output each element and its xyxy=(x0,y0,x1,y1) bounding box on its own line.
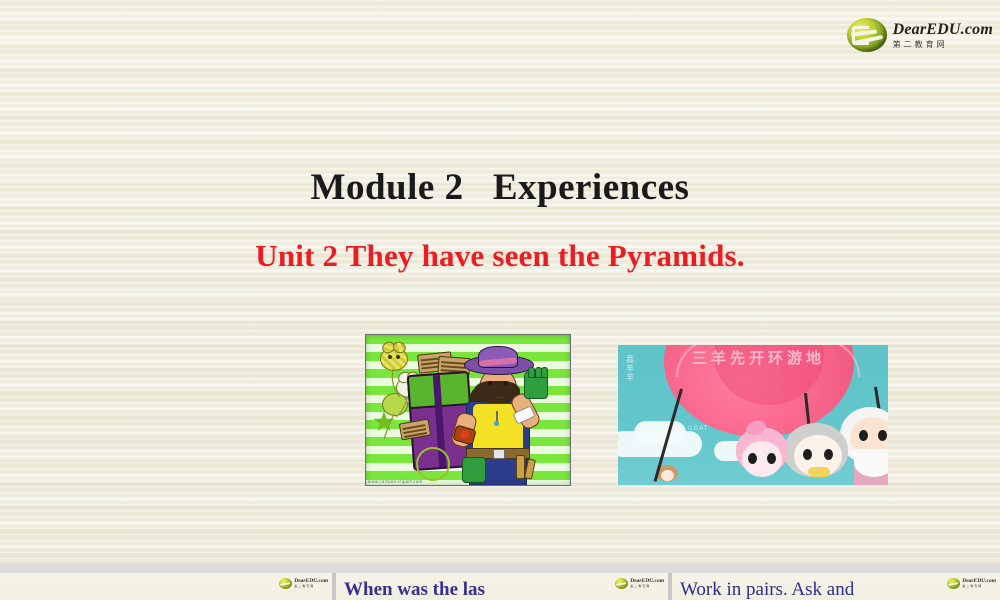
thumb-logo-sub-1: 第二教育网 xyxy=(294,585,328,588)
thumb-text-2: When was the las xyxy=(344,579,668,600)
corner-stamp-icon: 喜羊羊 xyxy=(626,355,640,381)
slide-gap xyxy=(0,563,1000,573)
slide-thumbnail-strip[interactable]: DearEDU.com 第二教育网 DearEDU.com 第二教育网 When… xyxy=(0,573,1000,600)
boy-traveller-cartoon[interactable]: www.cartoon-clipart.com xyxy=(365,334,571,486)
current-slide[interactable]: DearEDU.com 第二教育网 Module 2 Experiences U… xyxy=(0,0,1000,563)
slide-thumb-2[interactable]: DearEDU.com 第二教育网 When was the las xyxy=(336,573,668,600)
logo-sub-text: 第二教育网 xyxy=(893,41,993,49)
sheep-necklace-icon xyxy=(808,467,830,477)
green-sphere-icon xyxy=(847,18,887,52)
dearedu-logo: DearEDU.com 第二教育网 xyxy=(847,18,993,52)
image-watermark: www.cartoon-clipart.com xyxy=(368,479,423,484)
slide-title-unit: Unit 2 They have seen the Pyramids. xyxy=(0,238,1000,274)
presentation-stage: DearEDU.com 第二教育网 Module 2 Experiences U… xyxy=(0,0,1000,600)
sheep-pink-face xyxy=(742,441,782,477)
slide-thumb-3[interactable]: DearEDU.com 第二教育网 Work in pairs. Ask and xyxy=(672,573,1000,600)
balloon-caption-cn: 三羊先开环游地 xyxy=(692,347,825,368)
thumb-text-3: Work in pairs. Ask and xyxy=(680,579,1000,600)
sheep-white-beard xyxy=(854,449,888,477)
cloud-shape-1 xyxy=(618,431,702,457)
slide-title-module: Module 2 Experiences xyxy=(0,166,1000,209)
slide-thumb-1[interactable]: DearEDU.com 第二教育网 xyxy=(0,573,332,600)
logo-text-block: DearEDU.com 第二教育网 xyxy=(893,22,993,49)
sheep-hot-air-balloon-cartoon[interactable]: 三羊先开环游地 喜羊羊 PLEASANT GOAT xyxy=(618,345,888,485)
thumb-logo-1: DearEDU.com 第二教育网 xyxy=(279,578,328,589)
green-sphere-icon xyxy=(279,578,292,589)
logo-main-text: DearEDU.com xyxy=(893,22,993,38)
